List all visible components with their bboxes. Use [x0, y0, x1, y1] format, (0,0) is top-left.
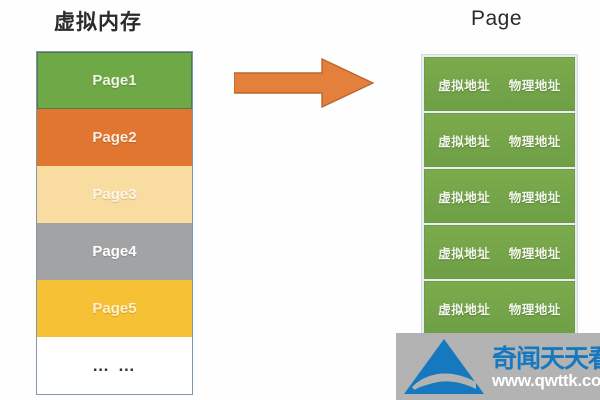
page-table-row[interactable]: 虚拟地址物理地址: [424, 57, 575, 111]
page-table-virtual-address: 虚拟地址: [438, 187, 490, 206]
virtual-memory-cell-label: Page5: [92, 300, 136, 317]
page-table-physical-address: 物理地址: [509, 187, 561, 206]
virtual-memory-cell-label: Page3: [92, 186, 136, 203]
page-table-row[interactable]: 虚拟地址物理地址: [424, 169, 575, 223]
page-table-row[interactable]: 虚拟地址物理地址: [424, 281, 575, 335]
page-table-physical-address: 物理地址: [509, 299, 561, 318]
page-table-physical-address: 物理地址: [509, 243, 561, 262]
virtual-memory-cell[interactable]: … …: [37, 337, 192, 394]
virtual-memory-column: Page1Page2Page3Page4Page5… …: [36, 51, 193, 395]
virtual-memory-cell-label: … …: [92, 356, 137, 376]
virtual-memory-cell-label: Page1: [92, 72, 136, 89]
page-table-physical-address: 物理地址: [509, 131, 561, 150]
virtual-memory-cell[interactable]: Page4: [37, 223, 192, 280]
virtual-memory-cell-label: Page4: [92, 243, 136, 260]
virtual-memory-cell-label: Page2: [92, 129, 136, 146]
page-table-virtual-address: 虚拟地址: [438, 299, 490, 318]
page-table-virtual-address: 虚拟地址: [438, 75, 490, 94]
watermark-site-name: 奇闻天天看: [492, 339, 600, 375]
virtual-memory-cell[interactable]: Page1: [37, 52, 192, 109]
page-table-virtual-address: 虚拟地址: [438, 243, 490, 262]
virtual-memory-cell[interactable]: Page5: [37, 280, 192, 337]
page-table-physical-address: 物理地址: [509, 75, 561, 94]
flow-arrow-right-icon: [234, 58, 374, 108]
page-table-virtual-address: 虚拟地址: [438, 131, 490, 150]
virtual-memory-cell[interactable]: Page2: [37, 109, 192, 166]
mountain-triangle-logo-icon: [402, 337, 486, 397]
diagram-canvas: 虚拟内存 Page Page1Page2Page3Page4Page5… … 虚…: [0, 0, 600, 400]
watermark-url[interactable]: www.qwttk.com: [492, 371, 600, 391]
page-table-row[interactable]: 虚拟地址物理地址: [424, 113, 575, 167]
watermark-overlay: 奇闻天天看 www.qwttk.com: [396, 333, 600, 400]
page-title-virtual-memory: 虚拟内存: [54, 6, 142, 36]
page-table-row[interactable]: 虚拟地址物理地址: [424, 225, 575, 279]
page-title-page: Page: [471, 7, 522, 31]
virtual-memory-cell[interactable]: Page3: [37, 166, 192, 223]
